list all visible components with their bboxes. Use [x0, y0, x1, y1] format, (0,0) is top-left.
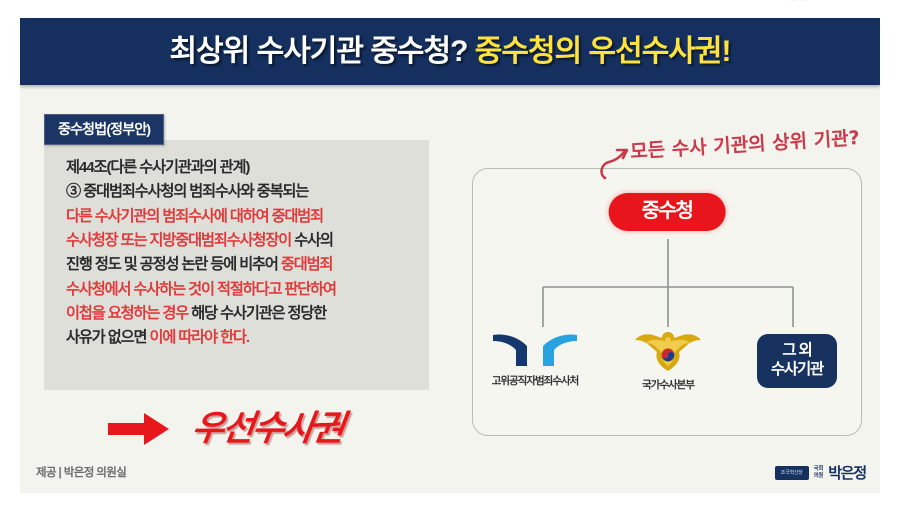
slogan-text: 우선수사권 — [190, 411, 346, 446]
ars-donation-line: ARS후원금 1877-1907 — [762, 0, 876, 4]
diagram-leaf-nio-label: 국가수사본부 — [608, 377, 728, 392]
law-text-body: 제44조(다른 수사기관과의 관계)③ 중대범죄수사청의 범죄수사와 중복되는다… — [66, 156, 419, 351]
headline-banner: 최상위 수사기관 중수청? 중수청의 우선수사권! — [20, 18, 880, 85]
law-text-line: 다른 수사기관의 범죄수사에 대하여 중대범죄 — [66, 205, 419, 229]
brand-name: 박은정 — [828, 462, 866, 483]
page-title-white: 최상위 수사기관 중수청? — [169, 35, 474, 68]
ars-label: ARS후원금 — [762, 0, 808, 2]
cio-wing-logo-icon — [491, 329, 579, 369]
law-text-segment: ③ 중대범죄수사청의 범죄수사와 중복되는 — [66, 183, 308, 200]
content-board: 최상위 수사기관 중수청? 중수청의 우선수사권! 중수청법(정부안) 제44조… — [20, 18, 880, 493]
frame-right — [880, 0, 900, 509]
law-text-segment: 제44조(다른 수사기관과의 관계) — [66, 159, 249, 176]
slogan-row: 우선수사권 — [108, 411, 343, 446]
diagram-leaf-cio-label: 고위공직자범죄수사처 — [475, 373, 595, 388]
slide-stage: 최상위 수사기관 중수청? 중수청의 우선수사권! 중수청법(정부안) 제44조… — [0, 0, 900, 509]
diagram-leaf-other-line2: 수사기관 — [771, 361, 823, 380]
law-text-segment: 이첩을 요청하는 경우 — [66, 305, 188, 322]
law-text-segment: 진행 정도 및 공정성 논란 등에 비추어 — [66, 256, 278, 273]
law-text-segment: 해당 수사기관은 정당한 — [188, 305, 326, 322]
law-text-panel: 제44조(다른 수사기관과의 관계)③ 중대범죄수사청의 범죄수사와 중복되는다… — [44, 140, 429, 390]
law-text-line: 제44조(다른 수사기관과의 관계) — [66, 156, 419, 180]
org-diagram: 중수청 고위공직자범죄수사처 — [472, 168, 862, 436]
law-text-line: 이첩을 요청하는 경우 해당 수사기관은 정당한 — [66, 302, 419, 326]
law-badge: 중수청법(정부안) — [44, 114, 164, 145]
diagram-leaf-other-line1: 그 외 — [771, 342, 823, 361]
ars-number: 1877-1907 — [809, 0, 876, 4]
page-title: 최상위 수사기관 중수청? 중수청의 우선수사권! — [169, 37, 730, 67]
diagram-node-top: 중수청 — [609, 193, 726, 231]
source-credit: 제공 | 박은정 의원실 — [36, 464, 126, 480]
frame-bottom — [0, 493, 900, 509]
party-logo-text: 조국혁신당 — [781, 469, 803, 476]
brand-subtitle: 국회 의원 — [814, 466, 824, 480]
right-arrow-icon — [108, 412, 170, 446]
law-text-segment: 다른 수사기관의 범죄수사에 대하여 중대범죄 — [66, 208, 323, 225]
law-text-line: 수사청에서 수사하는 것이 적절하다고 판단하여 — [66, 278, 419, 302]
law-text-segment: 수사청에서 수사하는 것이 적절하다고 판단하여 — [66, 281, 336, 298]
law-text-segment: 중대범죄 — [278, 256, 333, 273]
law-text-line: ③ 중대범죄수사청의 범죄수사와 중복되는 — [66, 180, 419, 204]
diagram-leaf-other: 그 외 수사기관 — [737, 334, 857, 388]
party-brandmark: 조국혁신당 국회 의원 박은정 — [775, 462, 866, 483]
law-text-segment: 수사청장 또는 지방중대범죄수사청장이 — [66, 232, 291, 249]
law-text-segment: 사유가 없으면 — [66, 329, 146, 346]
diagram-leaf-other-box: 그 외 수사기관 — [757, 334, 837, 388]
brand-subtitle-line1: 국회 — [814, 466, 824, 473]
law-text-segment: 수사의 — [291, 232, 333, 249]
law-text-line: 사유가 없으면 이에 따라야 한다. — [66, 326, 419, 350]
police-eagle-emblem-icon — [633, 329, 703, 373]
law-text-segment: 이에 따라야 한다. — [146, 329, 249, 346]
brand-subtitle-line2: 의원 — [814, 473, 824, 480]
frame-left — [0, 0, 20, 509]
page-title-yellow: 중수청의 우선수사권! — [475, 35, 731, 68]
handwritten-annotation: 모든 수사 기관의 상위 기관? — [629, 123, 860, 164]
law-text-line: 진행 정도 및 공정성 논란 등에 비추어 중대범죄 — [66, 253, 419, 277]
diagram-leaf-cio: 고위공직자범죄수사처 — [475, 329, 595, 388]
law-text-line: 수사청장 또는 지방중대범죄수사청장이 수사의 — [66, 229, 419, 253]
diagram-leaf-nio: 국가수사본부 — [608, 329, 728, 392]
party-logo-chip: 조국혁신당 — [775, 466, 809, 480]
